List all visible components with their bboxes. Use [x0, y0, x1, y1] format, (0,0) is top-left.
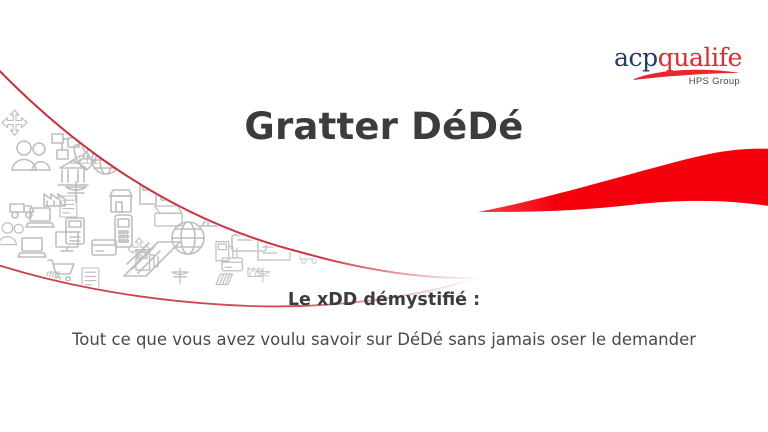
document-icon: [60, 196, 77, 217]
plane-icon: [458, 214, 471, 220]
factory-icon: [44, 194, 65, 206]
truck-icon: [10, 204, 34, 218]
factory-icon: [248, 268, 263, 277]
server-icon: [44, 272, 59, 282]
laptop-icon: [26, 208, 54, 227]
arrows-cross-icon: [128, 238, 150, 260]
printer-icon: [318, 236, 345, 256]
company-logo: acpqualife HPS Group: [594, 44, 742, 94]
power-line-icon: [256, 268, 270, 282]
calculator-icon: [66, 218, 84, 244]
credit-card-icon: [222, 258, 242, 271]
network-icon: [372, 218, 391, 236]
slide-title: Gratter DéDé: [0, 104, 768, 150]
arrows-cross-icon: [330, 220, 352, 242]
shopping-cart-icon: [48, 260, 74, 281]
slide-subtitle-body: Tout ce que vous avez voulu savoir sur D…: [0, 328, 768, 352]
people-icon: [0, 223, 23, 245]
plane-icon: [246, 196, 269, 207]
truck-icon: [358, 243, 375, 253]
bridge-icon: [70, 155, 97, 163]
bridge-icon: [124, 242, 180, 276]
document-icon: [82, 268, 99, 289]
laptop-icon: [18, 238, 46, 257]
power-line-icon: [196, 178, 212, 194]
storefront-icon: [110, 190, 132, 212]
gas-pump-icon: [216, 242, 237, 261]
globe-icon: [172, 222, 204, 254]
invoice-icon: [258, 218, 290, 260]
globe-icon: [92, 146, 120, 174]
red-curve-top: [0, 28, 478, 278]
credit-card-icon: [92, 240, 116, 255]
slide-subtitle-lead: Le xDD démystifié :: [0, 288, 768, 312]
presentation-slide: acpqualife HPS Group Gratter DéDé Le xDD…: [0, 0, 768, 432]
power-line-icon: [172, 268, 188, 284]
gas-pump-icon: [140, 180, 166, 204]
red-swoosh: [478, 149, 768, 212]
arrows-cross-icon: [148, 160, 184, 196]
plane-icon: [444, 212, 464, 221]
factory-icon: [428, 227, 442, 235]
printer-icon: [232, 226, 266, 251]
server-icon: [404, 224, 424, 237]
shopping-cart-icon: [284, 210, 305, 227]
truck-icon: [300, 253, 318, 264]
document-icon: [398, 214, 408, 221]
printer-icon: [155, 206, 182, 226]
power-line-icon: [66, 182, 86, 202]
server-icon: [216, 274, 233, 285]
arrows-cross-icon: [230, 188, 250, 208]
monitor-icon: [56, 232, 78, 251]
document-icon: [388, 230, 399, 238]
logo-tagline: HPS Group: [689, 76, 740, 87]
mobile-phone-icon: [115, 215, 132, 247]
bridge-icon: [200, 213, 244, 226]
gas-pump-icon: [136, 250, 158, 270]
monitor-icon: [186, 200, 201, 213]
bank-icon: [58, 160, 88, 185]
